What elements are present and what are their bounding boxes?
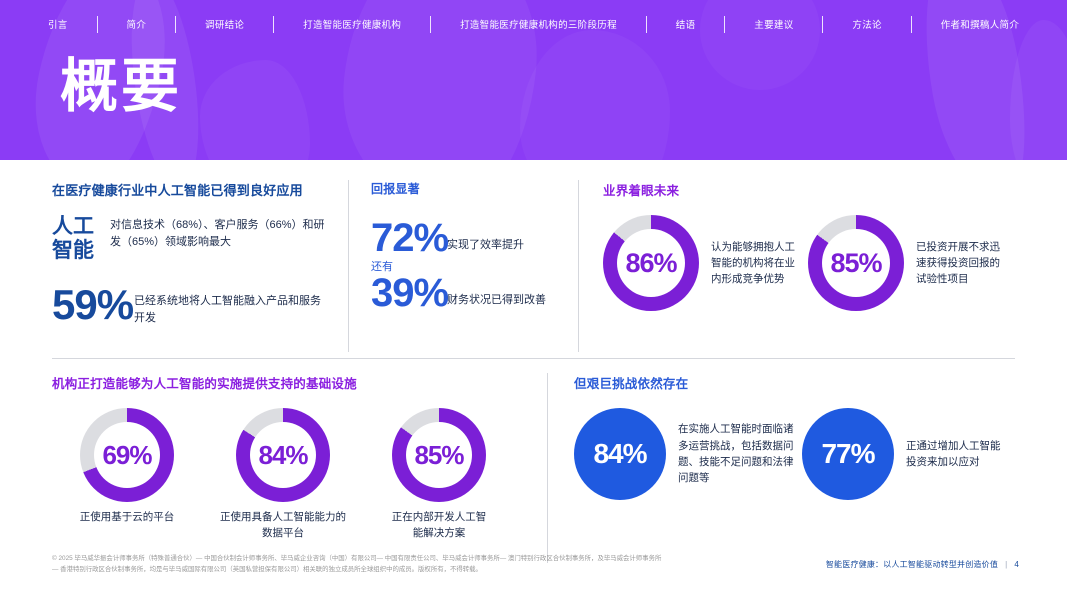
donut-chart-86: 86% (603, 215, 699, 311)
footer-report-info: 智能医疗健康：以人工智能驱动转型并创造价值 | 4 (826, 559, 1019, 570)
future-donut-item-85: 85% 已投资开展不求迅速获得投资回报的试验性项目 (808, 215, 1013, 311)
adoption-desc-ai: 对信息技术（68%）、客户服务（66%）和研发（65%）领域影响最大 (110, 215, 330, 250)
challenge-item-77: 77% 正通过增加人工智能投资来加以应对 (802, 408, 1012, 500)
section-title-challenges: 但艰巨挑战依然存在 (574, 373, 1015, 392)
challenge-item-84: 84% 在实施人工智能时面临诸多运营挑战，包括数据问题、技能不足问题和法律问题等 (574, 408, 802, 500)
donut-desc-86: 认为能够拥抱人工智能的机构将在业内形成竞争优势 (711, 239, 803, 288)
nav-separator (430, 16, 431, 33)
returns-value-72: 72% (371, 219, 447, 257)
donut-value-85: 85% (830, 248, 881, 279)
page-header: 引言 简介 调研结论 打造智能医疗健康机构 打造智能医疗健康机构的三阶段历程 结… (0, 0, 1067, 160)
donut-chart-85: 85% (808, 215, 904, 311)
infra-donut-item-84: 84% 正使用具备人工智能能力的数据平台 (216, 408, 350, 542)
footer-separator: | (1005, 560, 1007, 569)
returns-value-39: 39% (371, 274, 447, 312)
returns-stat-72: 72% 实现了效率提升 (371, 219, 578, 257)
nav-separator (273, 16, 274, 33)
adoption-desc-59: 已经系统地将人工智能融入产品和服务开发 (134, 285, 330, 326)
donut-value-84: 84% (258, 440, 307, 471)
section-divider-horizontal (52, 358, 1015, 359)
donut-desc-85: 已投资开展不求迅速获得投资回报的试验性项目 (916, 239, 1008, 288)
nav-separator (911, 16, 912, 33)
section-title-returns: 回报显著 (371, 180, 578, 197)
nav-item-authors[interactable]: 作者和撰稿人简介 (935, 17, 1025, 31)
returns-desc-72: 实现了效率提升 (447, 219, 524, 254)
nav-item-overview[interactable]: 简介 (121, 17, 153, 31)
section-challenges: 但艰巨挑战依然存在 84% 在实施人工智能时面临诸多运营挑战，包括数据问题、技能… (547, 373, 1015, 563)
section-title-adoption: 在医疗健康行业中人工智能已得到良好应用 (52, 180, 330, 199)
page-title: 概要 (60, 58, 182, 116)
future-donut-item-86: 86% 认为能够拥抱人工智能的机构将在业内形成竞争优势 (603, 215, 808, 311)
donut-chart-85b: 85% (392, 408, 486, 502)
top-row: 在医疗健康行业中人工智能已得到良好应用 人工 智能 对信息技术（68%）、客户服… (52, 180, 1015, 352)
donut-value-69: 69% (102, 440, 151, 471)
challenges-circle-group: 84% 在实施人工智能时面临诸多运营挑战，包括数据问题、技能不足问题和法律问题等… (574, 408, 1015, 500)
slide-content: 在医疗健康行业中人工智能已得到良好应用 人工 智能 对信息技术（68%）、客户服… (0, 180, 1067, 563)
footer-report-title: 智能医疗健康：以人工智能驱动转型并创造价值 (826, 559, 998, 570)
returns-stat-39: 39% 财务状况已得到改善 (371, 274, 578, 312)
decorative-shape (520, 30, 670, 160)
nav-item-three-stage-journey[interactable]: 打造智能医疗健康机构的三阶段历程 (454, 17, 623, 31)
section-infrastructure: 机构正打造能够为人工智能的实施提供支持的基础设施 69% 正使用基于云的平台 8… (52, 373, 547, 563)
future-donut-group: 86% 认为能够拥抱人工智能的机构将在业内形成竞争优势 85% 已投资开展不求迅… (603, 215, 1015, 311)
page-footer: © 2025 毕马威华振会计师事务所（特殊普通合伙）— 中国合伙制会计师事务所、… (0, 552, 1067, 600)
nav-item-introduction[interactable]: 引言 (42, 17, 74, 31)
donut-chart-69: 69% (80, 408, 174, 502)
bottom-row: 机构正打造能够为人工智能的实施提供支持的基础设施 69% 正使用基于云的平台 8… (52, 373, 1015, 563)
footer-legal-text: © 2025 毕马威华振会计师事务所（特殊普通合伙）— 中国合伙制会计师事务所、… (52, 554, 662, 575)
nav-separator (646, 16, 647, 33)
adoption-label-line2: 智能 (52, 239, 110, 263)
nav-item-survey-findings[interactable]: 调研结论 (199, 17, 250, 31)
donut-value-86: 86% (625, 248, 676, 279)
nav-separator (822, 16, 823, 33)
infrastructure-donut-group: 69% 正使用基于云的平台 84% 正使用具备人工智能能力的数据平台 (52, 408, 529, 542)
circle-desc-84: 在实施人工智能时面临诸多运营挑战，包括数据问题、技能不足问题和法律问题等 (678, 421, 796, 486)
adoption-value-59: 59% (52, 285, 134, 325)
infra-donut-item-69: 69% 正使用基于云的平台 (60, 408, 194, 542)
section-title-infrastructure: 机构正打造能够为人工智能的实施提供支持的基础设施 (52, 373, 529, 392)
adoption-label-line1: 人工 (52, 215, 110, 239)
returns-desc-39: 财务状况已得到改善 (447, 274, 546, 309)
circle-value-84: 84% (593, 438, 646, 470)
top-navigation[interactable]: 引言 简介 调研结论 打造智能医疗健康机构 打造智能医疗健康机构的三阶段历程 结… (0, 0, 1067, 48)
donut-caption-85b: 正在内部开发人工智能解决方案 (389, 510, 489, 542)
nav-item-building-institution[interactable]: 打造智能医疗健康机构 (297, 17, 407, 31)
decorative-shape (200, 60, 310, 160)
nav-separator (175, 16, 176, 33)
section-future: 业界着眼未来 86% 认为能够拥抱人工智能的机构将在业内形成竞争优势 85% (578, 180, 1015, 352)
nav-item-key-recommendations[interactable]: 主要建议 (748, 17, 799, 31)
donut-chart-84: 84% (236, 408, 330, 502)
section-title-future: 业界着眼未来 (603, 180, 1015, 199)
nav-item-conclusion[interactable]: 结语 (670, 17, 702, 31)
adoption-label-ai: 人工 智能 (52, 215, 110, 263)
infra-donut-item-85: 85% 正在内部开发人工智能解决方案 (372, 408, 506, 542)
donut-caption-84: 正使用具备人工智能能力的数据平台 (216, 510, 350, 542)
section-adoption: 在医疗健康行业中人工智能已得到良好应用 人工 智能 对信息技术（68%）、客户服… (52, 180, 348, 352)
nav-separator (724, 16, 725, 33)
circle-chart-84: 84% (574, 408, 666, 500)
circle-desc-77: 正通过增加人工智能投资来加以应对 (906, 438, 1006, 471)
donut-value-85b: 85% (414, 440, 463, 471)
donut-caption-69: 正使用基于云的平台 (80, 510, 175, 526)
section-returns: 回报显著 72% 实现了效率提升 还有 39% 财务状况已得到改善 (348, 180, 578, 352)
footer-page-number: 4 (1014, 560, 1019, 569)
nav-item-methodology[interactable]: 方法论 (846, 17, 887, 31)
slide-page: 引言 简介 调研结论 打造智能医疗健康机构 打造智能医疗健康机构的三阶段历程 结… (0, 0, 1067, 600)
nav-separator (97, 16, 98, 33)
adoption-stat-59: 59% 已经系统地将人工智能融入产品和服务开发 (52, 285, 330, 326)
circle-value-77: 77% (821, 438, 874, 470)
adoption-stat-ai: 人工 智能 对信息技术（68%）、客户服务（66%）和研发（65%）领域影响最大 (52, 215, 330, 263)
circle-chart-77: 77% (802, 408, 894, 500)
